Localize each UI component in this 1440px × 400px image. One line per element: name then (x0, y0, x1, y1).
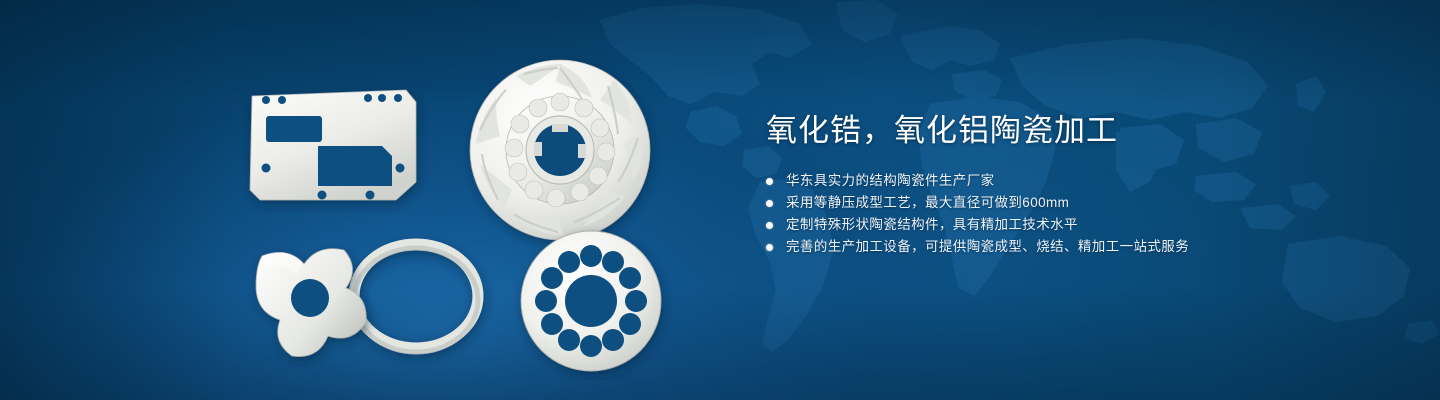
list-item: 完善的生产加工设备，可提供陶瓷成型、烧结、精加工一站式服务 (766, 236, 1326, 258)
bullet-dot-icon (766, 200, 773, 207)
feature-text: 华东具实力的结构陶瓷件生产厂家 (786, 170, 995, 192)
ceramic-impeller-disc (470, 60, 650, 240)
banner-copy: 氧化锆，氧化铝陶瓷加工 华东具实力的结构陶瓷件生产厂家 采用等静压成型工艺，最大… (766, 108, 1326, 258)
hero-banner: 氧化锆，氧化铝陶瓷加工 华东具实力的结构陶瓷件生产厂家 采用等静压成型工艺，最大… (0, 0, 1440, 400)
bullet-dot-icon (766, 178, 773, 185)
bullet-dot-icon (766, 244, 773, 251)
bullet-dot-icon (766, 222, 773, 229)
ceramic-hole-disc (521, 231, 661, 371)
list-item: 华东具实力的结构陶瓷件生产厂家 (766, 170, 1326, 192)
ceramic-machined-plate (250, 90, 416, 200)
feature-text: 定制特殊形状陶瓷结构件，具有精加工技术水平 (786, 214, 1078, 236)
feature-list: 华东具实力的结构陶瓷件生产厂家 采用等静压成型工艺，最大直径可做到600mm 定… (766, 170, 1326, 258)
list-item: 定制特殊形状陶瓷结构件，具有精加工技术水平 (766, 214, 1326, 236)
list-item: 采用等静压成型工艺，最大直径可做到600mm (766, 192, 1326, 214)
page-title: 氧化锆，氧化铝陶瓷加工 (766, 108, 1326, 154)
ceramic-cross-part (256, 249, 366, 357)
ceramic-ring (354, 244, 478, 352)
feature-text: 完善的生产加工设备，可提供陶瓷成型、烧结、精加工一站式服务 (786, 236, 1189, 258)
feature-text: 采用等静压成型工艺，最大直径可做到600mm (786, 192, 1069, 214)
product-photo-cluster (220, 40, 720, 380)
